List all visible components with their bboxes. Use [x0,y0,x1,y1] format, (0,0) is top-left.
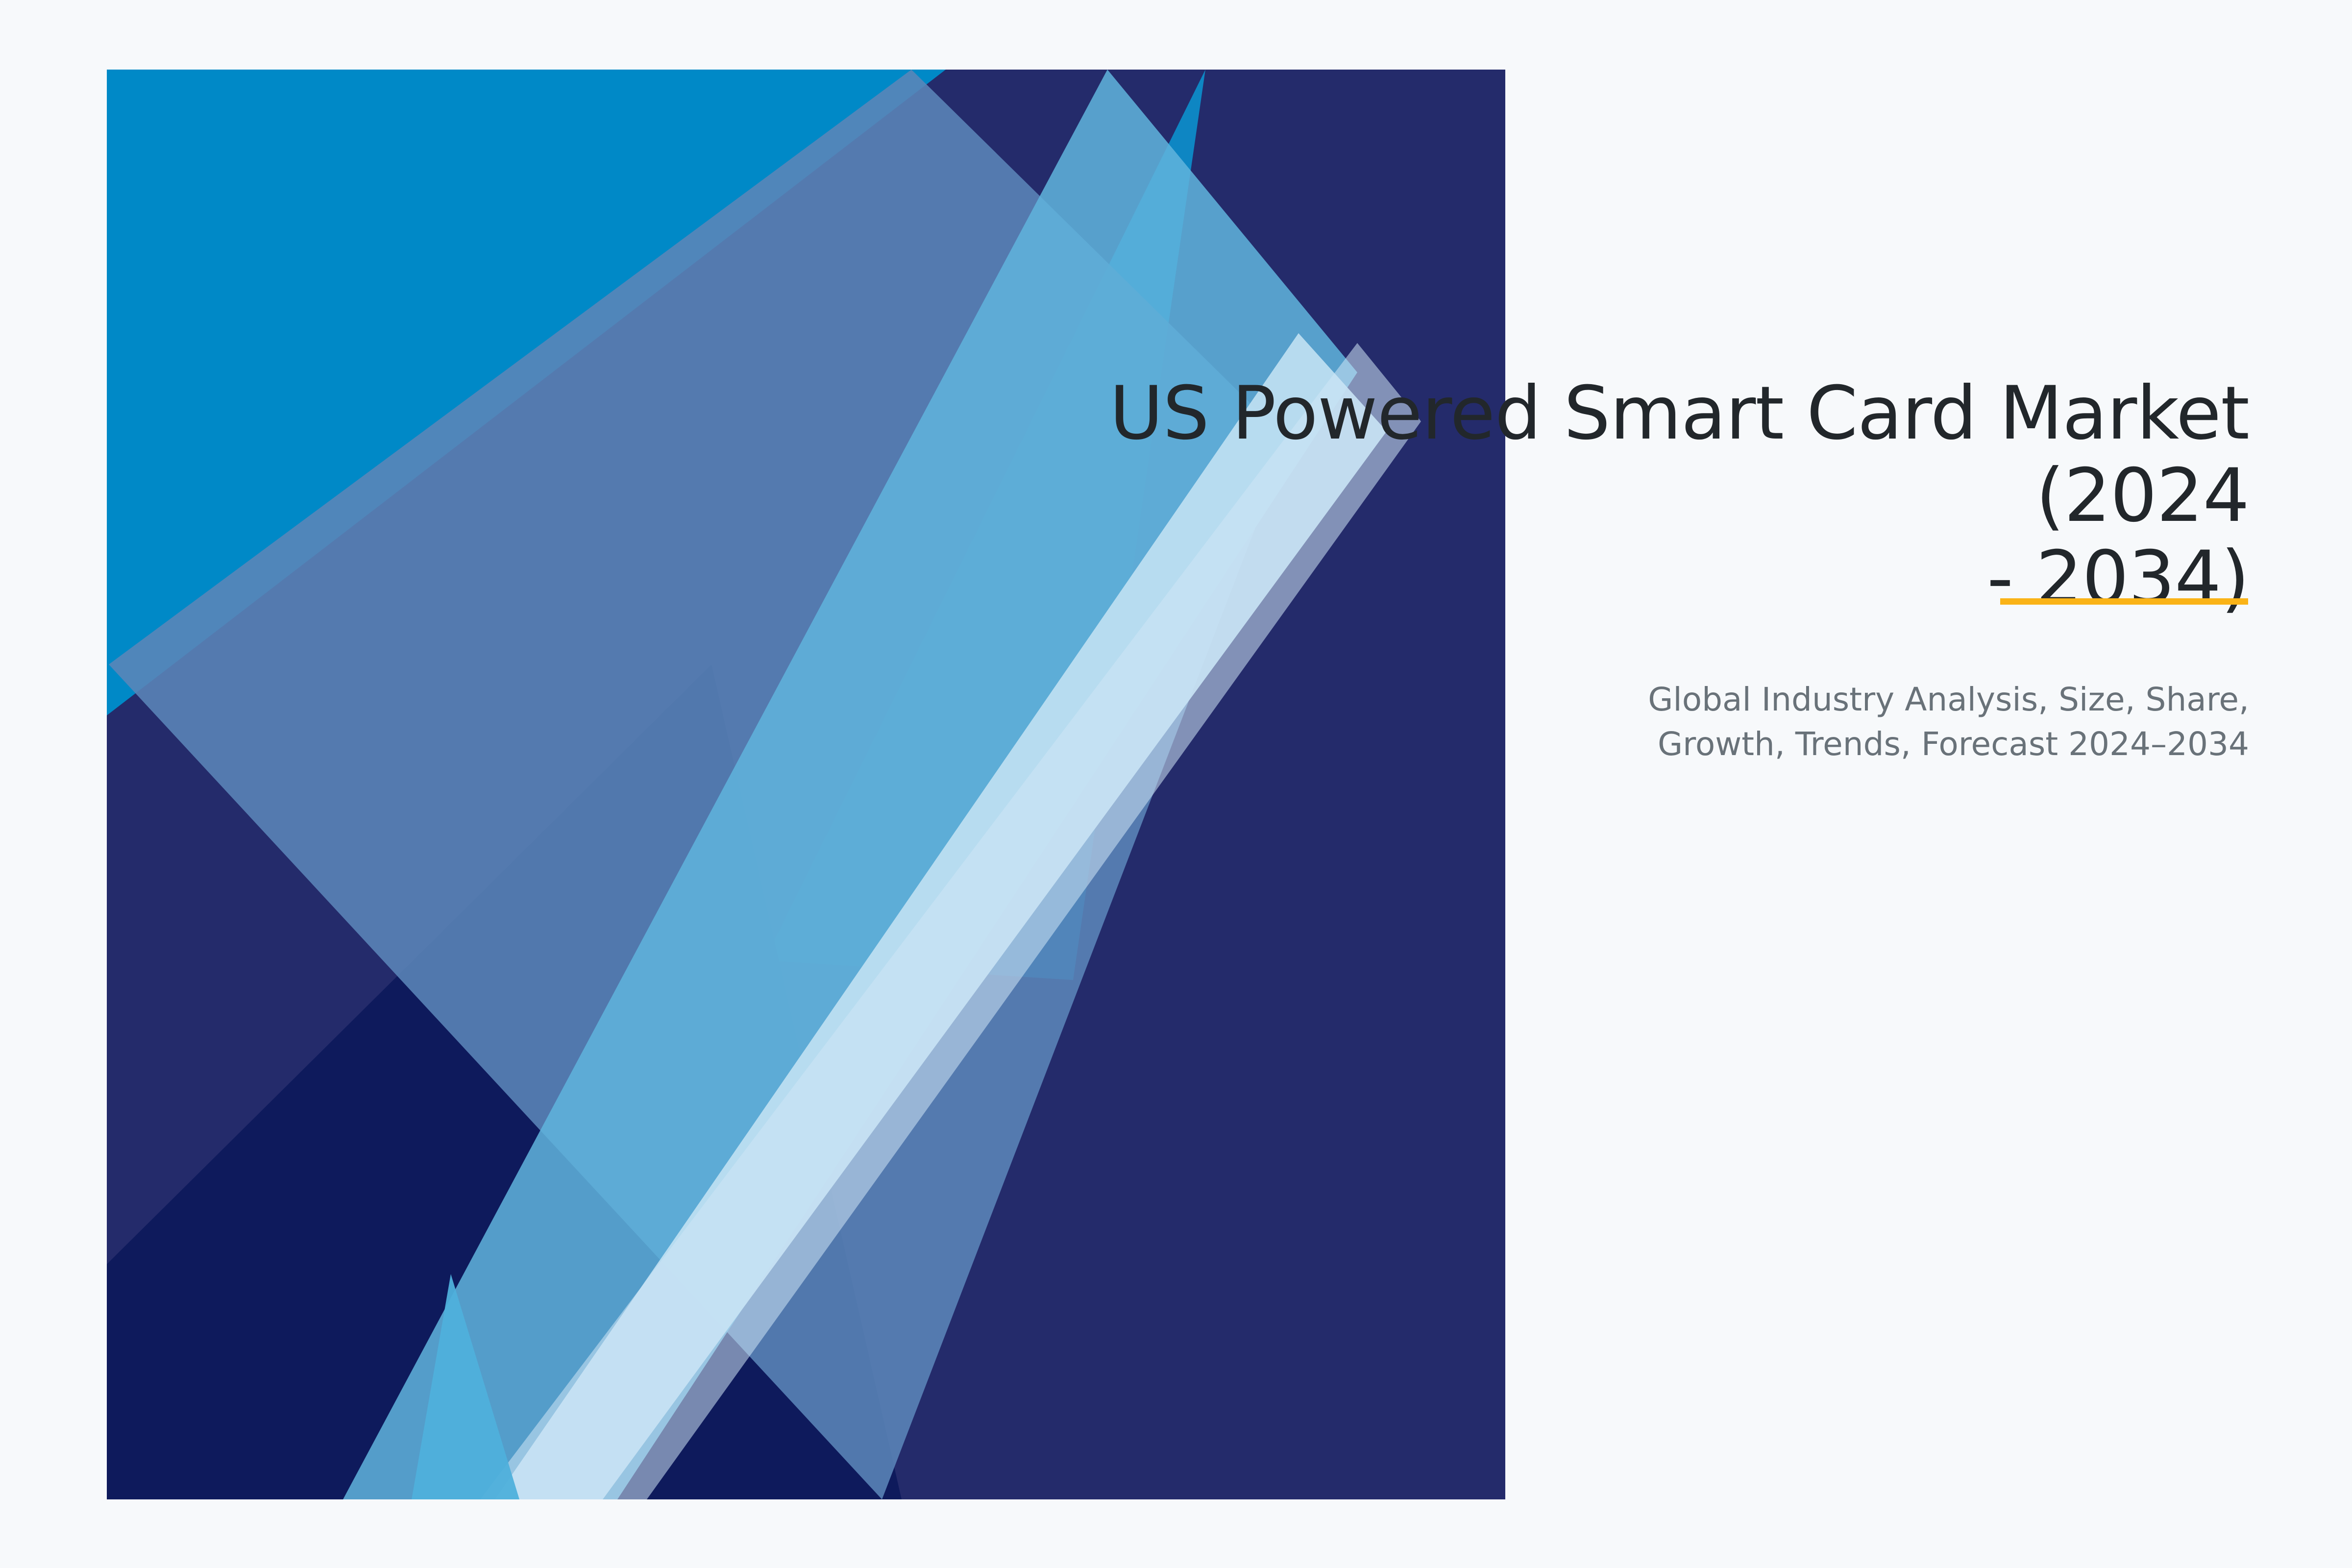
page-title: US Powered Smart Card Market (2024 - 203… [975,372,2249,619]
cover-text-block: US Powered Smart Card Market (2024 - 203… [975,372,2249,766]
report-cover-page: US Powered Smart Card Market (2024 - 203… [0,0,2352,1568]
title-accent-underline [2000,598,2248,605]
abstract-geometric-banner [0,0,2352,1568]
title-wrapper: US Powered Smart Card Market (2024 - 203… [975,372,2249,619]
page-subtitle: Global Industry Analysis, Size, Share, G… [975,619,2249,766]
